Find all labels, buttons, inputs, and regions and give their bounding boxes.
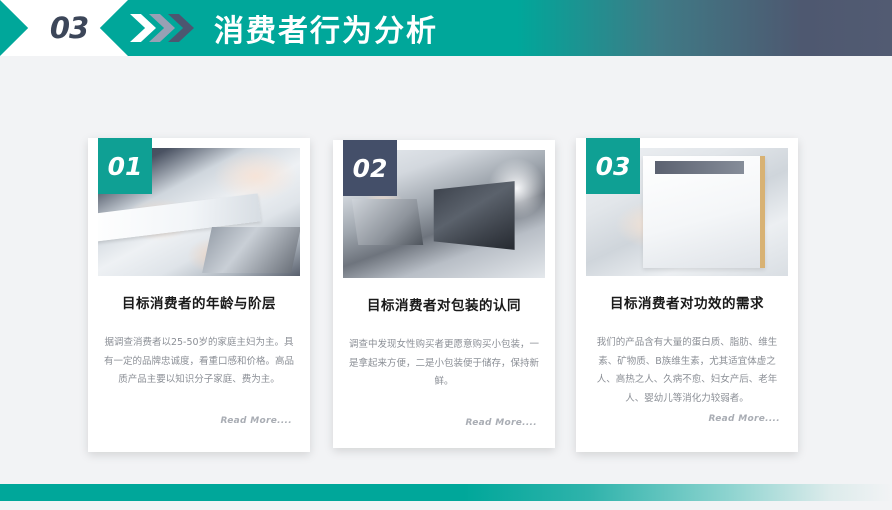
card-body-2: 调查中发现女性购买者更愿意购买小包装，一是拿起来方便，二是小包装便于储存，保持新… — [343, 336, 545, 392]
card-title-3: 目标消费者对功效的需求 — [586, 292, 788, 312]
card-title-1: 目标消费者的年龄与阶层 — [98, 292, 300, 312]
card-body-1: 据调查消费者以25-50岁的家庭主妇为主。具有一定的品牌忠诚度，看重口感和价格。… — [98, 334, 300, 390]
read-more-link-3[interactable]: Read More.... — [709, 414, 781, 424]
slide: 03 消费者行为分析 01 目标消费者的年龄与阶层 据调查消费者以25-50岁的… — [0, 0, 892, 510]
card-badge-2: 02 — [343, 140, 397, 196]
content-card-2[interactable]: 02 目标消费者对包装的认同 调查中发现女性购买者更愿意购买小包装，一是拿起来方… — [333, 140, 555, 448]
read-more-link-2[interactable]: Read More.... — [466, 418, 538, 428]
slide-footer-bar — [0, 484, 892, 501]
content-card-3[interactable]: 03 目标消费者对功效的需求 我们的产品含有大量的蛋白质、脂肪、维生素、矿物质、… — [576, 138, 798, 452]
card-body-3: 我们的产品含有大量的蛋白质、脂肪、维生素、矿物质、B族维生素，尤其适宜体虚之人、… — [586, 334, 788, 408]
read-more-link-1[interactable]: Read More.... — [221, 416, 293, 426]
cards-container: 01 目标消费者的年龄与阶层 据调查消费者以25-50岁的家庭主妇为主。具有一定… — [0, 0, 892, 510]
card-title-2: 目标消费者对包装的认同 — [343, 294, 545, 314]
card-badge-3: 03 — [586, 138, 640, 194]
card-badge-1: 01 — [98, 138, 152, 194]
content-card-1[interactable]: 01 目标消费者的年龄与阶层 据调查消费者以25-50岁的家庭主妇为主。具有一定… — [88, 138, 310, 452]
